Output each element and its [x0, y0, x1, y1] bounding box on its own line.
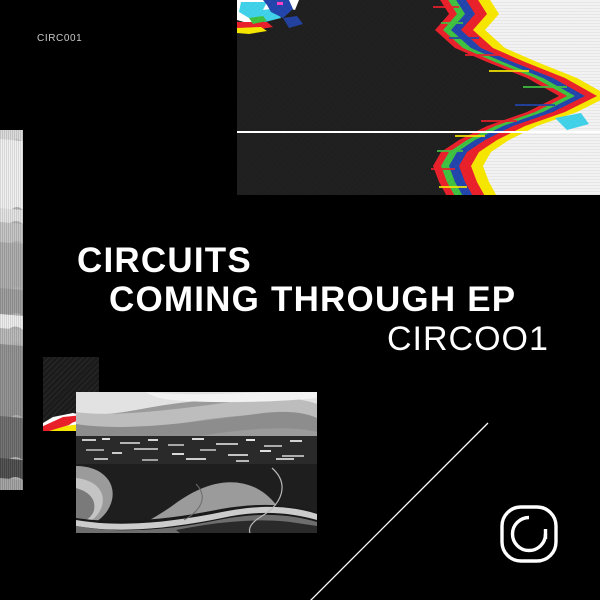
glitch-graphic-panel — [237, 0, 600, 195]
glitch-chromatic-waveform — [237, 0, 600, 195]
abstract-photo-graphic — [76, 392, 317, 533]
diagonal-hairline — [300, 415, 500, 600]
catalog-number-large: CIRCOO1 — [387, 322, 600, 356]
artist-name: CIRCUITS — [77, 243, 600, 278]
photo-glitch-band — [76, 436, 317, 464]
abstract-photo-panel — [76, 392, 317, 533]
logo-outer-squircle — [502, 507, 556, 561]
glitch-divider-line — [237, 131, 600, 133]
album-cover: CIRC001 — [0, 0, 600, 600]
glitch-dark-mass — [237, 0, 559, 195]
circuits-logo-icon — [498, 503, 560, 565]
logo-inner-broken-circle — [513, 518, 546, 551]
catalog-number-top: CIRC001 — [37, 33, 82, 44]
release-title: COMING THROUGH EP — [109, 282, 600, 317]
title-block: CIRCUITS COMING THROUGH EP CIRCOO1 — [0, 243, 600, 356]
